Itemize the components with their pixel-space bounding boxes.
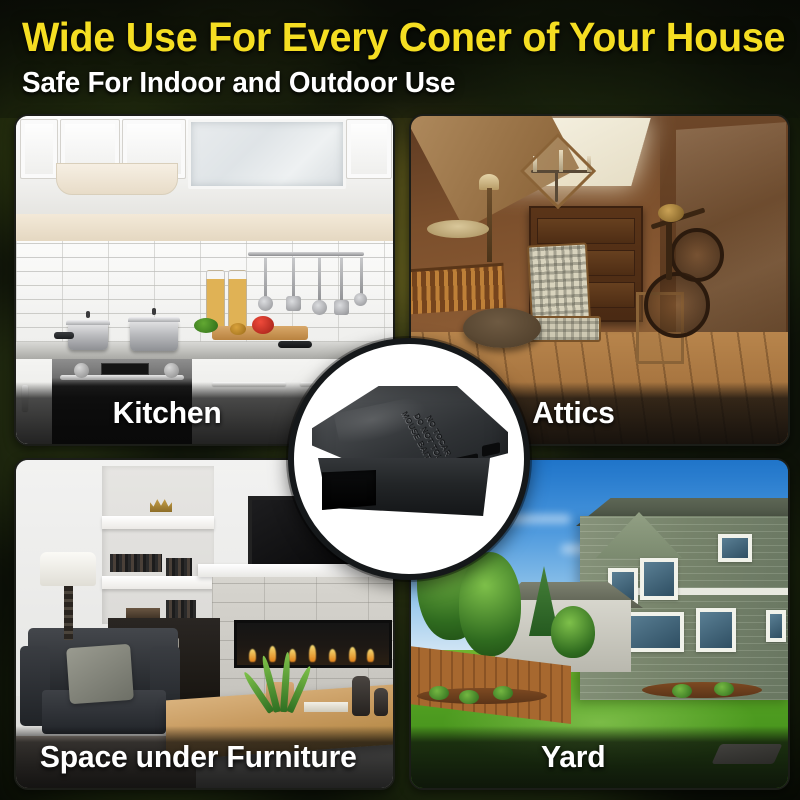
- shrub: [429, 686, 449, 700]
- oven-knob[interactable]: [74, 363, 89, 378]
- lamp-shade: [40, 552, 96, 586]
- shelf: [102, 516, 214, 529]
- decor-vase: [352, 676, 370, 716]
- flame: [289, 649, 296, 662]
- bike-frame: [666, 222, 672, 280]
- utensil-rail: [248, 252, 364, 256]
- dresser-drawer: [537, 218, 635, 244]
- tree: [551, 606, 595, 658]
- shrub: [459, 690, 479, 704]
- striped-bench: [409, 263, 506, 315]
- utensil: [360, 257, 363, 295]
- shrub: [672, 684, 692, 698]
- window: [640, 558, 678, 600]
- shrub: [714, 682, 734, 696]
- stacked-books: [304, 702, 348, 712]
- under-cabinet-band: [16, 214, 393, 244]
- cabinet-handle[interactable]: [22, 385, 28, 411]
- mulch-bed: [642, 682, 762, 698]
- chair-back: [527, 242, 591, 325]
- pot-lid: [128, 317, 180, 322]
- cooking-pot: [130, 321, 178, 351]
- cooking-pot: [68, 324, 108, 350]
- drawer-handle[interactable]: [212, 382, 286, 386]
- page-title: Wide Use For Every Coner of Your House: [22, 14, 755, 60]
- shelf: [102, 576, 214, 589]
- bike-headlight: [658, 204, 684, 222]
- flame: [329, 649, 336, 662]
- bicycle-wheel: [670, 228, 724, 282]
- stone-walkway: [712, 744, 783, 764]
- flame: [309, 645, 316, 662]
- books: [110, 554, 162, 572]
- product-infographic: Wide Use For Every Coner of Your House S…: [0, 0, 800, 800]
- utensil: [340, 257, 343, 303]
- lamp-post: [64, 586, 73, 640]
- range-hood: [56, 163, 178, 195]
- pasta-jar: [228, 270, 247, 330]
- bicycle-wheel: [644, 272, 710, 338]
- pot-handle: [152, 308, 156, 315]
- flame: [349, 647, 356, 662]
- mouse-bait-station: MOUSE BAIT STATION DO NOT TOUCH NO TOCAR: [312, 386, 508, 526]
- window: [718, 534, 752, 562]
- pan-handle: [54, 332, 74, 339]
- window: [696, 608, 736, 652]
- wall-niche: [102, 466, 214, 624]
- flame: [249, 649, 256, 662]
- armchair: [20, 628, 180, 746]
- cymbal: [427, 220, 489, 238]
- cabinet-door: [346, 119, 392, 179]
- flame: [269, 646, 276, 662]
- page-subtitle: Safe For Indoor and Outdoor Use: [22, 67, 752, 99]
- plant-pot: [266, 682, 294, 712]
- oven-knob[interactable]: [164, 363, 179, 378]
- old-bicycle: [640, 198, 730, 348]
- linear-fireplace: [234, 620, 392, 668]
- onion: [230, 323, 246, 335]
- books: [166, 558, 192, 576]
- shrub: [493, 686, 513, 700]
- cabinet-door: [20, 119, 58, 179]
- broccoli: [194, 318, 218, 333]
- throw-pillow: [66, 644, 134, 704]
- pot-handle: [86, 311, 90, 318]
- decor-vase: [374, 688, 388, 716]
- pan-handle: [278, 341, 312, 348]
- tree: [459, 552, 521, 656]
- utensil: [318, 257, 321, 303]
- glass-cabinet-door: [188, 119, 346, 189]
- floor-lamp-post: [487, 188, 492, 262]
- bell-pepper: [252, 316, 274, 334]
- flame: [367, 649, 374, 662]
- skimmer-head: [312, 300, 327, 315]
- window: [766, 610, 786, 642]
- bait-station-entry-hole: [322, 470, 376, 510]
- pot-lid: [66, 320, 110, 325]
- spatula-head: [286, 296, 301, 311]
- oven-display: [101, 363, 149, 375]
- product-callout-circle: MOUSE BAIT STATION DO NOT TOUCH NO TOCAR: [288, 338, 530, 580]
- header: Wide Use For Every Coner of Your House S…: [0, 0, 800, 112]
- round-side-table: [463, 308, 541, 348]
- masher-head: [334, 300, 349, 315]
